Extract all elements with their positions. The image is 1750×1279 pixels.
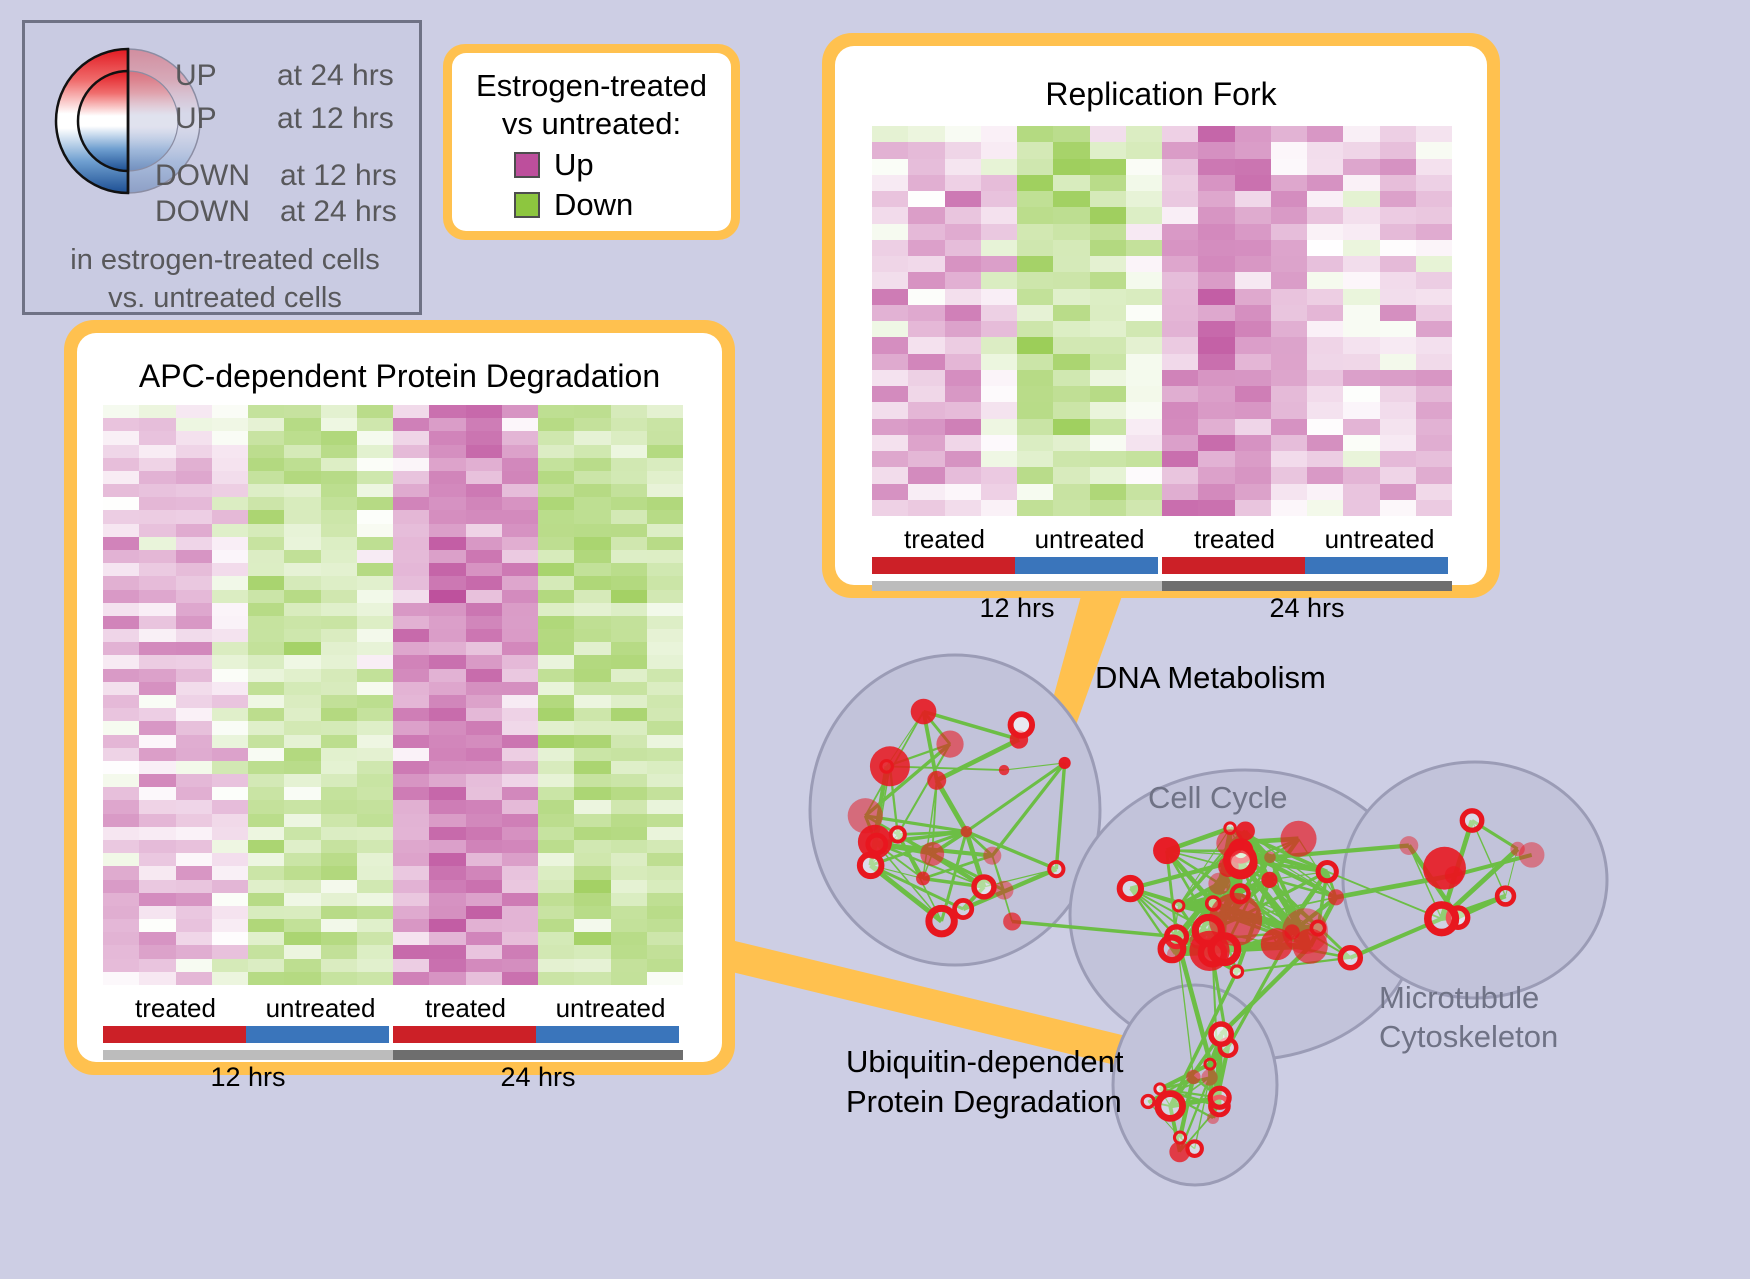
- network-node[interactable]: [1158, 1094, 1183, 1119]
- heatmap-cell: [357, 893, 393, 906]
- heatmap-cell: [357, 853, 393, 866]
- heatmap-cell: [1271, 256, 1307, 272]
- heatmap-cell: [1416, 484, 1452, 500]
- network-node[interactable]: [1205, 1059, 1215, 1069]
- heatmap-cell: [1235, 402, 1271, 418]
- heatmap-cell: [574, 405, 610, 418]
- network-node[interactable]: [1462, 811, 1481, 830]
- heatmap-cell: [393, 959, 429, 972]
- heatmap-cell: [393, 735, 429, 748]
- heatmap-cell: [872, 207, 908, 223]
- heatmap-cell: [538, 827, 574, 840]
- heatmap-cell: [611, 471, 647, 484]
- heatmap-cell: [1017, 272, 1053, 288]
- heatmap-cell: [466, 458, 502, 471]
- heatmap-cell: [393, 708, 429, 721]
- network-node[interactable]: [1011, 714, 1033, 736]
- heatmap-cell: [429, 669, 465, 682]
- heatmap-cell: [908, 337, 944, 353]
- heatmap-cell: [248, 748, 284, 761]
- heatmap-cell: [176, 695, 212, 708]
- heatmap-cell: [139, 445, 175, 458]
- heatmap-cell: [981, 240, 1017, 256]
- heatmap-cell: [1235, 142, 1271, 158]
- heatmap-cell: [1017, 224, 1053, 240]
- heatmap-cell: [908, 419, 944, 435]
- heatmap-cell: [466, 642, 502, 655]
- network-node[interactable]: [1399, 836, 1418, 855]
- heatmap-cell: [1198, 159, 1234, 175]
- heatmap-cell: [647, 563, 683, 576]
- heatmap-cell: [1343, 240, 1379, 256]
- network-node[interactable]: [1174, 1132, 1185, 1143]
- heatmap-cell: [284, 576, 320, 589]
- heatmap-cell: [357, 787, 393, 800]
- heatmap-cell: [248, 866, 284, 879]
- heatmap-cell: [981, 321, 1017, 337]
- network-node[interactable]: [1120, 878, 1141, 899]
- axis-group-bar: [872, 557, 1015, 574]
- heatmap-cell: [357, 590, 393, 603]
- heatmap-cell: [176, 932, 212, 945]
- heatmap-cell: [139, 880, 175, 893]
- heatmap-cell: [1343, 191, 1379, 207]
- heatmap-cell: [647, 932, 683, 945]
- heatmap-cell: [1416, 500, 1452, 516]
- heatmap-cell: [139, 682, 175, 695]
- heatmap-cell: [176, 866, 212, 879]
- heatmap-cell: [611, 590, 647, 603]
- network-node[interactable]: [999, 765, 1009, 775]
- heatmap-cell: [1343, 126, 1379, 142]
- heatmap-cell: [1235, 256, 1271, 272]
- heatmap-cell: [357, 880, 393, 893]
- heatmap-cell: [212, 629, 248, 642]
- heatmap-cell: [176, 919, 212, 932]
- network-node[interactable]: [1169, 1142, 1190, 1163]
- heatmap-cell: [502, 880, 538, 893]
- axis-rf-group-labels: treateduntreatedtreateduntreated: [872, 524, 1452, 555]
- network-node[interactable]: [1318, 862, 1336, 880]
- axis-time-bar: [1162, 581, 1452, 591]
- heatmap-cell: [1090, 321, 1126, 337]
- network-node[interactable]: [955, 900, 972, 917]
- heatmap-cell: [1090, 272, 1126, 288]
- network-node[interactable]: [983, 847, 1001, 865]
- network-node[interactable]: [961, 826, 972, 837]
- heatmap-cell: [284, 418, 320, 431]
- heatmap-cell: [212, 524, 248, 537]
- heatmap-cell: [1017, 500, 1053, 516]
- heatmap-cell: [429, 787, 465, 800]
- axis-rf-group-bars: [872, 557, 1452, 574]
- heatmap-cell: [103, 576, 139, 589]
- heatmap-cell: [103, 669, 139, 682]
- heatmap-cell: [139, 932, 175, 945]
- heatmap-cell: [284, 695, 320, 708]
- heatmap-cell: [872, 289, 908, 305]
- heatmap-cell: [872, 467, 908, 483]
- heatmap-cell: [945, 467, 981, 483]
- heatmap-cell: [103, 629, 139, 642]
- heatmap-cell: [284, 735, 320, 748]
- heatmap-cell: [284, 629, 320, 642]
- heatmap-cell: [393, 840, 429, 853]
- heatmap-cell: [139, 814, 175, 827]
- heatmap-cell: [1235, 305, 1271, 321]
- network-node[interactable]: [1161, 938, 1184, 961]
- heatmap-cell: [284, 484, 320, 497]
- heatmap-cell: [502, 537, 538, 550]
- heatmap-cell: [1162, 126, 1198, 142]
- heatmap-cell: [538, 893, 574, 906]
- heatmap-cell: [945, 305, 981, 321]
- heatmap-cell: [248, 445, 284, 458]
- heatmap-cell: [429, 616, 465, 629]
- network-node[interactable]: [911, 699, 937, 725]
- heatmap-cell: [1307, 240, 1343, 256]
- heatmap-cell: [103, 708, 139, 721]
- heatmap-cell: [945, 386, 981, 402]
- heatmap-cell: [1380, 224, 1416, 240]
- heatmap-cell: [574, 827, 610, 840]
- heatmap-cell: [429, 945, 465, 958]
- heatmap-cell: [1416, 240, 1452, 256]
- heatmap-cell: [1307, 484, 1343, 500]
- heatmap-cell: [647, 471, 683, 484]
- heatmap-replication-fork: [872, 126, 1452, 516]
- network-node[interactable]: [929, 908, 954, 933]
- heatmap-cell: [538, 906, 574, 919]
- heatmap-cell: [176, 405, 212, 418]
- network-node[interactable]: [1231, 966, 1242, 977]
- heatmap-cell: [1198, 354, 1234, 370]
- heatmap-cell: [248, 972, 284, 985]
- heatmap-cell: [357, 603, 393, 616]
- network-node[interactable]: [1208, 873, 1230, 895]
- heatmap-cell: [502, 405, 538, 418]
- heatmap-cell: [1343, 386, 1379, 402]
- heatmap-cell: [284, 550, 320, 563]
- heatmap-cell: [321, 932, 357, 945]
- heatmap-cell: [321, 708, 357, 721]
- heatmap-cell: [357, 458, 393, 471]
- heatmap-cell: [1307, 337, 1343, 353]
- heatmap-cell: [139, 603, 175, 616]
- heatmap-cell: [1343, 500, 1379, 516]
- heatmap-cell: [393, 774, 429, 787]
- network-node[interactable]: [870, 746, 910, 786]
- heatmap-cell: [466, 484, 502, 497]
- heatmap-cell: [1053, 207, 1089, 223]
- heatmap-cell: [574, 721, 610, 734]
- heatmap-cell: [611, 735, 647, 748]
- heatmap-cell: [1380, 435, 1416, 451]
- heatmap-cell: [1053, 272, 1089, 288]
- heatmap-cell: [1416, 451, 1452, 467]
- heatmap-cell: [502, 682, 538, 695]
- heatmap-cell: [393, 510, 429, 523]
- heatmap-cell: [1198, 484, 1234, 500]
- heatmap-cell: [393, 603, 429, 616]
- heatmap-cell: [139, 418, 175, 431]
- heatmap-cell: [1235, 126, 1271, 142]
- heatmap-cell: [1090, 435, 1126, 451]
- heatmap-cell: [103, 787, 139, 800]
- heatmap-cell: [1307, 402, 1343, 418]
- network-node[interactable]: [1216, 829, 1243, 856]
- heatmap-cell: [139, 576, 175, 589]
- heatmap-cell: [945, 126, 981, 142]
- heatmap-cell: [1307, 321, 1343, 337]
- heatmap-cell: [103, 880, 139, 893]
- heatmap-cell: [176, 945, 212, 958]
- heatmap-cell: [1053, 354, 1089, 370]
- heatmap-cell: [981, 451, 1017, 467]
- heatmap-cell: [502, 866, 538, 879]
- heatmap-cell: [321, 431, 357, 444]
- heatmap-cell: [393, 497, 429, 510]
- network-node[interactable]: [1211, 1024, 1231, 1044]
- heatmap-cell: [1198, 142, 1234, 158]
- heatmap-cell: [1126, 142, 1162, 158]
- heatmap-cell: [647, 418, 683, 431]
- heatmap-cell: [872, 256, 908, 272]
- network-node[interactable]: [1210, 1088, 1229, 1107]
- heatmap-cell: [103, 590, 139, 603]
- heatmap-cell: [945, 159, 981, 175]
- network-node[interactable]: [1340, 948, 1360, 968]
- network-node[interactable]: [1264, 852, 1276, 864]
- heatmap-cell: [321, 655, 357, 668]
- heatmap-cell: [103, 510, 139, 523]
- network-node[interactable]: [1428, 905, 1456, 933]
- heatmap-cell: [357, 919, 393, 932]
- heatmap-cell: [429, 735, 465, 748]
- figure-canvas: UP at 24 hrs UP at 12 hrs DOWN at 12 hrs…: [0, 0, 1750, 1279]
- heatmap-cell: [103, 945, 139, 958]
- heatmap-cell: [212, 906, 248, 919]
- network-node[interactable]: [927, 771, 946, 790]
- network-node[interactable]: [1280, 821, 1316, 857]
- heatmap-cell: [248, 669, 284, 682]
- heatmap-cell: [647, 893, 683, 906]
- heatmap-cell: [466, 695, 502, 708]
- network-node[interactable]: [1049, 862, 1063, 876]
- axis-group-label: treated: [103, 993, 248, 1024]
- heatmap-cell: [103, 418, 139, 431]
- heatmap-cell: [212, 735, 248, 748]
- heatmap-cell: [248, 814, 284, 827]
- heatmap-cell: [1271, 175, 1307, 191]
- heatmap-cell: [1271, 224, 1307, 240]
- heatmap-cell: [1307, 272, 1343, 288]
- heatmap-cell: [1126, 305, 1162, 321]
- network-node[interactable]: [891, 827, 905, 841]
- heatmap-cell: [176, 748, 212, 761]
- heatmap-cell: [1162, 435, 1198, 451]
- heatmap-cell: [1017, 256, 1053, 272]
- heatmap-cell: [647, 880, 683, 893]
- heatmap-cell: [321, 880, 357, 893]
- heatmap-cell: [1343, 207, 1379, 223]
- heatmap-cell: [981, 370, 1017, 386]
- network-node[interactable]: [1003, 912, 1021, 930]
- heatmap-cell: [538, 458, 574, 471]
- axis-group-label: untreated: [248, 993, 393, 1024]
- heatmap-cell: [429, 682, 465, 695]
- heatmap-cell: [908, 224, 944, 240]
- heatmap-cell: [1380, 402, 1416, 418]
- heatmap-cell: [647, 669, 683, 682]
- heatmap-cell: [466, 445, 502, 458]
- network-node[interactable]: [1209, 893, 1262, 946]
- heatmap-cell: [1380, 419, 1416, 435]
- network-node[interactable]: [1059, 757, 1071, 769]
- heatmap-cell: [908, 159, 944, 175]
- heatmap-cell: [176, 431, 212, 444]
- heatmap-cell: [248, 774, 284, 787]
- heatmap-cell: [139, 550, 175, 563]
- heatmap-cell: [393, 906, 429, 919]
- heatmap-cell: [1053, 337, 1089, 353]
- network-node[interactable]: [1519, 842, 1545, 868]
- heatmap-cell: [284, 524, 320, 537]
- heatmap-cell: [538, 787, 574, 800]
- heatmap-cell: [212, 616, 248, 629]
- heatmap-cell: [1162, 159, 1198, 175]
- heatmap-cell: [1162, 386, 1198, 402]
- network-node[interactable]: [1261, 872, 1277, 888]
- heatmap-cell: [647, 550, 683, 563]
- heatmap-cell: [284, 537, 320, 550]
- heatmap-cell: [103, 959, 139, 972]
- heatmap-cell: [248, 840, 284, 853]
- heatmap-cell: [357, 550, 393, 563]
- axis-time-bar: [103, 1050, 393, 1060]
- heatmap-cell: [103, 445, 139, 458]
- heatmap-cell: [611, 814, 647, 827]
- heatmap-cell: [502, 563, 538, 576]
- heatmap-cell: [248, 959, 284, 972]
- heatmap-cell: [466, 972, 502, 985]
- heatmap-cell: [212, 537, 248, 550]
- heatmap-cell: [321, 787, 357, 800]
- network-node[interactable]: [1423, 847, 1466, 890]
- heatmap-cell: [647, 458, 683, 471]
- heatmap-cell: [103, 682, 139, 695]
- heatmap-cell: [502, 748, 538, 761]
- heatmap-cell: [538, 708, 574, 721]
- panel-apc-degradation-title: APC-dependent Protein Degradation: [77, 358, 722, 395]
- heatmap-cell: [1017, 126, 1053, 142]
- heatmap-cell: [1416, 175, 1452, 191]
- heatmap-cell: [284, 761, 320, 774]
- heatmap-cell: [1271, 484, 1307, 500]
- heatmap-cell: [1198, 256, 1234, 272]
- heatmap-cell: [139, 748, 175, 761]
- heatmap-cell: [1090, 240, 1126, 256]
- heatmap-cell: [357, 563, 393, 576]
- heatmap-cell: [393, 866, 429, 879]
- network-node[interactable]: [916, 872, 930, 886]
- heatmap-cell: [1090, 256, 1126, 272]
- heatmap-cell: [429, 484, 465, 497]
- heatmap-cell: [429, 603, 465, 616]
- network-node[interactable]: [920, 842, 944, 866]
- heatmap-cell: [872, 305, 908, 321]
- network-node[interactable]: [1173, 901, 1183, 911]
- heatmap-cell: [139, 563, 175, 576]
- heatmap-cell: [574, 471, 610, 484]
- heatmap-cell: [647, 431, 683, 444]
- heatmap-cell: [176, 590, 212, 603]
- heatmap-cell: [103, 774, 139, 787]
- heatmap-cell: [357, 655, 393, 668]
- heatmap-cell: [429, 590, 465, 603]
- heatmap-cell: [1343, 305, 1379, 321]
- heatmap-cell: [176, 880, 212, 893]
- heatmap-cell: [176, 721, 212, 734]
- heatmap-cell: [1090, 175, 1126, 191]
- network-node[interactable]: [974, 877, 994, 897]
- heatmap-cell: [502, 484, 538, 497]
- heatmap-cell: [139, 906, 175, 919]
- network-node[interactable]: [1328, 889, 1344, 905]
- heatmap-cell: [611, 537, 647, 550]
- heatmap-cell: [212, 590, 248, 603]
- network-node[interactable]: [848, 798, 883, 833]
- heatmap-cell: [1343, 159, 1379, 175]
- heatmap-cell: [139, 405, 175, 418]
- heatmap-cell: [139, 721, 175, 734]
- network-node[interactable]: [936, 730, 963, 757]
- heatmap-cell: [502, 590, 538, 603]
- heatmap-cell: [502, 669, 538, 682]
- heatmap-cell: [321, 669, 357, 682]
- heatmap-cell: [981, 467, 1017, 483]
- network-node[interactable]: [1186, 1070, 1200, 1084]
- heatmap-cell: [981, 354, 1017, 370]
- heatmap-cell: [357, 642, 393, 655]
- heatmap-cell: [502, 445, 538, 458]
- network-node[interactable]: [1282, 908, 1328, 954]
- heatmap-cell: [139, 655, 175, 668]
- heatmap-cell: [908, 240, 944, 256]
- heatmap-cell: [1198, 337, 1234, 353]
- heatmap-cell: [574, 576, 610, 589]
- heatmap-cell: [321, 945, 357, 958]
- heatmap-cell: [103, 458, 139, 471]
- heatmap-cell: [502, 629, 538, 642]
- network-node[interactable]: [995, 881, 1014, 900]
- heatmap-cell: [103, 932, 139, 945]
- heatmap-cell: [321, 840, 357, 853]
- heatmap-cell: [466, 893, 502, 906]
- network-node[interactable]: [1142, 1096, 1154, 1108]
- heatmap-cell: [357, 669, 393, 682]
- heatmap-cell: [321, 735, 357, 748]
- network-node[interactable]: [1201, 1069, 1217, 1085]
- heatmap-cell: [1126, 484, 1162, 500]
- heatmap-cell: [1162, 419, 1198, 435]
- heatmap-cell: [393, 682, 429, 695]
- network-node[interactable]: [1153, 837, 1180, 864]
- heatmap-cell: [872, 484, 908, 500]
- network-node[interactable]: [1497, 888, 1514, 905]
- heatmap-cell: [1380, 142, 1416, 158]
- heatmap-cell: [611, 445, 647, 458]
